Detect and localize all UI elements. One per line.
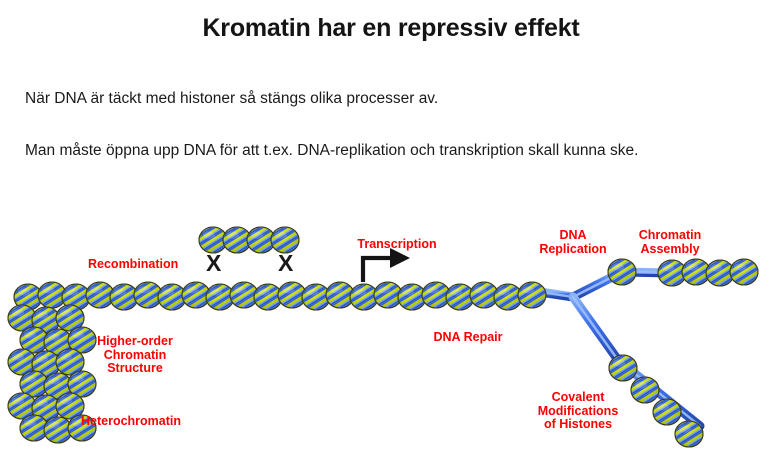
- main-chromatin-fiber: [4, 273, 556, 319]
- page-title: Kromatin har en repressiv effekt: [0, 14, 782, 43]
- label-chromatin-assembly: Chromatin Assembly: [610, 229, 730, 256]
- label-covalent-modifications-of-histones: Covalent Modifications of Histones: [508, 391, 648, 432]
- crossover-x-left: X: [206, 252, 221, 275]
- label-recombination: Recombination: [88, 258, 178, 272]
- label-transcription: Transcription: [327, 238, 467, 252]
- chromatin-diagram: Recombination Higher-order Chromatin Str…: [0, 200, 782, 460]
- body-paragraph-1: När DNA är täckt med histoner så stängs …: [25, 90, 438, 108]
- label-heterochromatin: Heterochromatin: [56, 415, 206, 429]
- label-dna-repair: DNA Repair: [403, 331, 533, 345]
- chromatin-assembly-strand: [598, 250, 768, 295]
- crossover-x-right: X: [278, 252, 293, 275]
- body-paragraph-2: Man måste öppna upp DNA för att t.ex. DN…: [25, 142, 638, 160]
- label-higher-order-chromatin-structure: Higher-order Chromatin Structure: [60, 335, 210, 376]
- transcription-arrow-icon: [363, 248, 410, 282]
